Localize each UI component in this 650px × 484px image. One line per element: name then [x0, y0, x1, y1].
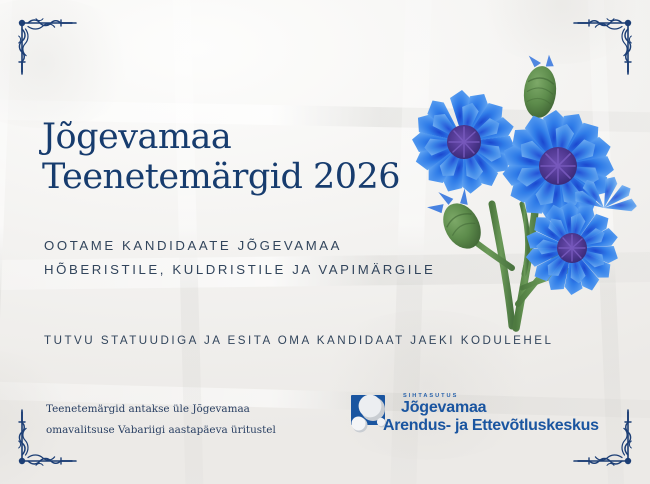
footnote-text: Teenetemärgid antakse üle Jõgevamaa omav… — [46, 399, 276, 441]
organization-logo[interactable]: SIHTASUTUS Jõgevamaa Arendus- ja Ettevõt… — [349, 392, 599, 434]
page-title: Jõgevamaa Teenetemärgid 2026 — [42, 118, 400, 198]
corner-ornament-top-left — [14, 14, 86, 86]
poster-subtitle: OOTAME KANDIDAATE JÕGEVAMAA HÕBERISTILE,… — [44, 234, 435, 283]
poster-canvas: Jõgevamaa Teenetemärgid 2026 OOTAME KAND… — [0, 0, 650, 484]
logo-wordmark: SIHTASUTUS Jõgevamaa Arendus- ja Ettevõt… — [401, 392, 599, 434]
logo-name-line2: Arendus- ja Ettevõtluskeskus — [383, 417, 599, 434]
logo-name-line1: Jõgevamaa — [401, 400, 599, 416]
corner-ornament-top-right — [564, 14, 636, 86]
call-to-action-text: TUTVU STATUUDIGA JA ESITA OMA KANDIDAAT … — [44, 334, 553, 347]
